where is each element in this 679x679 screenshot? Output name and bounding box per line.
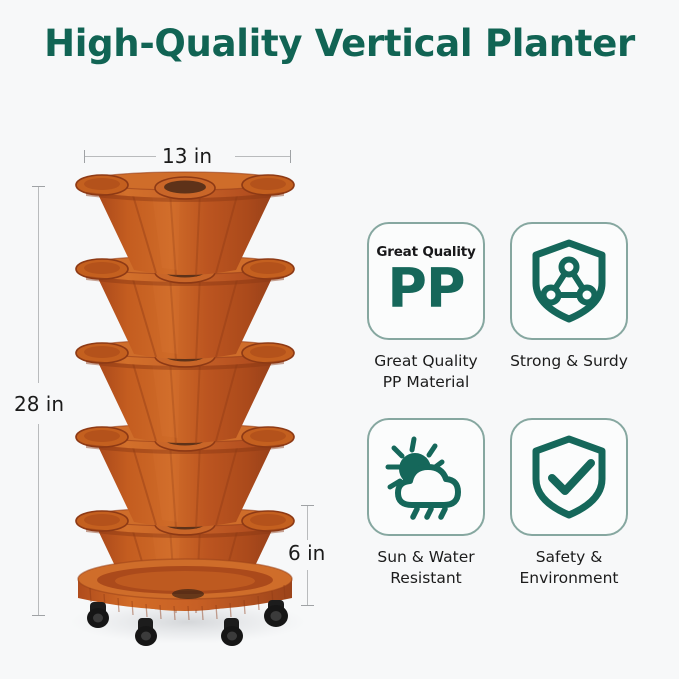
caster-wheel [87, 602, 109, 628]
feature-caption: Safety & Environment [503, 547, 635, 588]
feature-caption-line: Safety & [503, 547, 635, 568]
width-dimension-line-left [84, 156, 156, 157]
pp-badge-main-label: PP [387, 262, 464, 316]
feature-caption-line: Strong & Surdy [503, 351, 635, 372]
height-dimension-cap-bottom [32, 615, 45, 616]
width-dimension-cap-right [290, 150, 291, 163]
caster-wheel [264, 600, 288, 627]
shield-check-icon [523, 431, 615, 523]
width-dimension-line-right [235, 156, 290, 157]
feature-caption: Strong & Surdy [503, 351, 635, 372]
height-dimension-cap-top [32, 186, 45, 187]
feature-card: Great Quality PP [367, 222, 485, 340]
feature-caption-line: Sun & Water [360, 547, 492, 568]
feature-card [510, 418, 628, 536]
width-dimension-cap-left [84, 150, 85, 163]
shield-molecule-icon [523, 235, 615, 327]
height-dimension-line-top [38, 186, 39, 383]
feature-caption-line: PP Material [360, 372, 492, 393]
feature-grid: Great Quality PP Great Quality PP Materi… [360, 222, 635, 622]
feature-caption: Sun & Water Resistant [360, 547, 492, 588]
feature-item-sun-water-resistant: Sun & Water Resistant [360, 418, 492, 588]
product-image [60, 170, 310, 650]
feature-caption: Great Quality PP Material [360, 351, 492, 392]
width-dimension-label: 13 in [162, 144, 212, 168]
feature-item-pp-material: Great Quality PP Great Quality PP Materi… [360, 222, 492, 392]
height-dimension-line-bottom [38, 424, 39, 616]
feature-caption-line: Environment [503, 568, 635, 589]
feature-caption-line: Resistant [360, 568, 492, 589]
sun-cloud-rain-icon [378, 429, 474, 525]
feature-card [510, 222, 628, 340]
infographic-page: High-Quality Vertical Planter 13 in 28 i… [0, 0, 679, 679]
feature-item-safety-environment: Safety & Environment [503, 418, 635, 588]
feature-caption-line: Great Quality [360, 351, 492, 372]
feature-card [367, 418, 485, 536]
pp-material-icon: Great Quality PP [376, 246, 475, 317]
page-title: High-Quality Vertical Planter [0, 22, 679, 65]
height-dimension-label: 28 in [14, 392, 64, 416]
feature-item-strong-sturdy: Strong & Surdy [503, 222, 635, 372]
